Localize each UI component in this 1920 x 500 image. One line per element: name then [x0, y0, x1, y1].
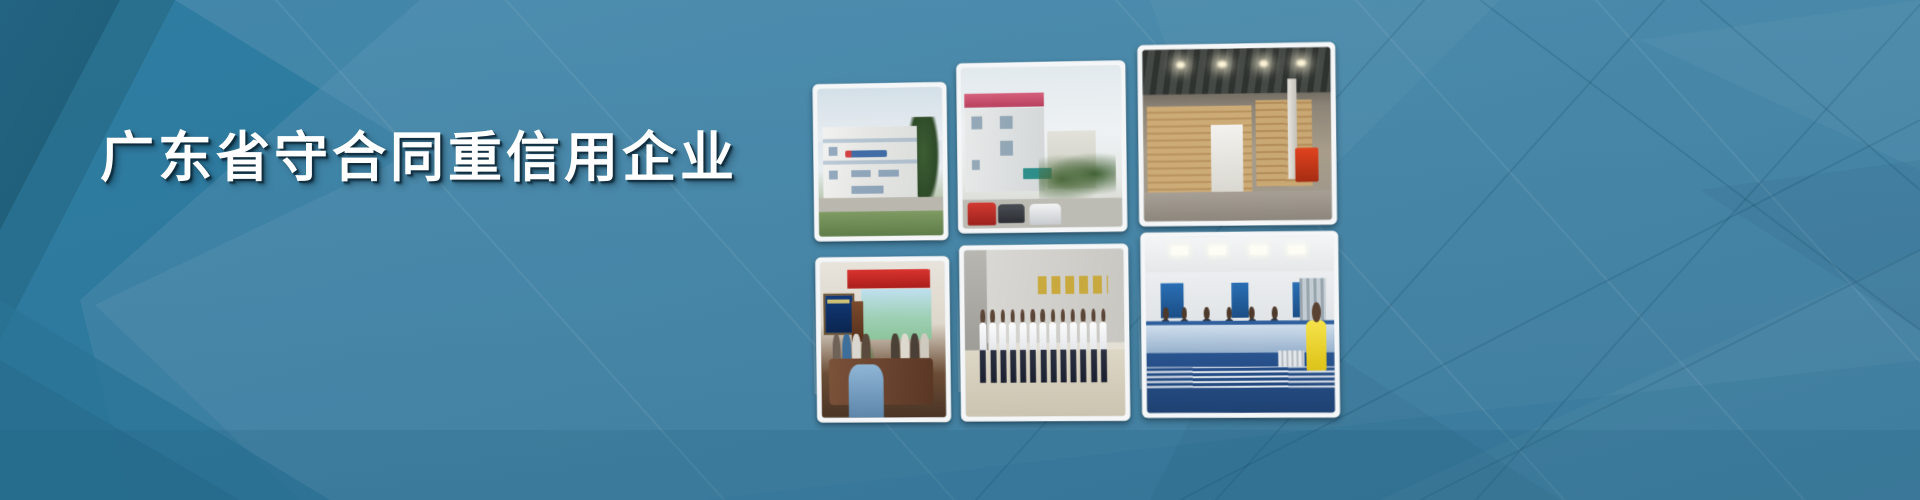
- company-logo-on-wall: [846, 150, 888, 157]
- photo-office-building[interactable]: [956, 60, 1127, 233]
- presentation-screen: [823, 293, 854, 335]
- warehouse-image: [1142, 47, 1332, 222]
- photo-team[interactable]: [959, 244, 1131, 422]
- photo-factory-exterior[interactable]: [812, 82, 948, 242]
- photo-gallery: [800, 20, 1644, 393]
- office-cubicles-image: [1145, 236, 1335, 413]
- red-event-banner: [847, 269, 929, 288]
- headline-container: 广东省守合同重信用企业: [0, 0, 800, 500]
- company-banner: 广东省守合同重信用企业: [0, 0, 1920, 500]
- page-title: 广东省守合同重信用企业: [100, 131, 738, 185]
- person-yellow-jacket: [1306, 321, 1327, 371]
- meeting-room-image: [820, 261, 946, 418]
- photo-meeting-room[interactable]: [815, 256, 951, 423]
- photo-grid: [812, 41, 1338, 375]
- photo-office-cubicles[interactable]: [1140, 231, 1340, 418]
- wall-company-name: [1037, 276, 1108, 295]
- team-photo-image: [964, 249, 1126, 417]
- office-building-image: [961, 65, 1122, 228]
- photo-warehouse[interactable]: [1137, 42, 1337, 227]
- factory-exterior-image: [817, 87, 943, 237]
